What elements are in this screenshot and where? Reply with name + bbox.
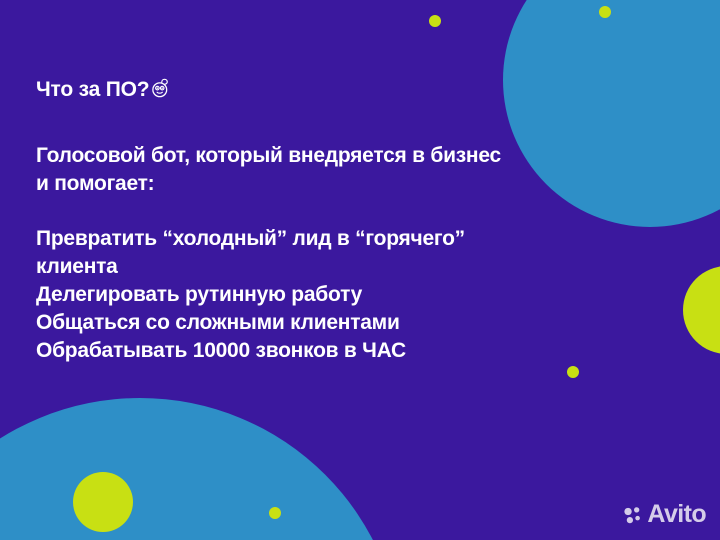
page-title-text: Что за ПО?: [36, 78, 149, 102]
list-item: Общаться со сложными клиентами: [36, 309, 581, 337]
intro-line-2: и помогает:: [36, 170, 581, 198]
content-spacer: [36, 198, 581, 225]
list-item: Обрабатывать 10000 звонков в ЧАС: [36, 337, 581, 365]
yellow-circle-bottom-left-shape: [73, 472, 133, 532]
slide-text-content: Что за ПО? Голосовой бот, который внедря…: [36, 78, 581, 365]
list-item: Превратить “холодный” лид в “горячего”: [36, 225, 581, 253]
robot-face-emoji: [150, 77, 173, 100]
blue-circle-bottom-left-shape: [0, 398, 402, 540]
yellow-dot-top-blue-shape: [599, 6, 611, 18]
yellow-dot-inside-blue-shape: [269, 507, 281, 519]
list-item: Делегировать рутинную работу: [36, 281, 581, 309]
intro-line-1: Голосовой бот, который внедряется в бизн…: [36, 142, 581, 170]
avito-watermark: Avito: [622, 502, 706, 527]
page-title: Что за ПО?: [36, 78, 581, 102]
yellow-dot-mid-right-shape: [567, 366, 579, 378]
list-item: клиента: [36, 253, 581, 281]
avito-wordmark: Avito: [647, 502, 706, 527]
slide-canvas: Что за ПО? Голосовой бот, который внедря…: [0, 0, 720, 540]
yellow-dot-top-purple-shape: [429, 15, 441, 27]
benefits-list: Превратить “холодный” лид в “горячего” к…: [36, 225, 581, 365]
avito-dots-logo-icon: [622, 504, 644, 526]
yellow-circle-right-edge-shape: [683, 266, 720, 354]
